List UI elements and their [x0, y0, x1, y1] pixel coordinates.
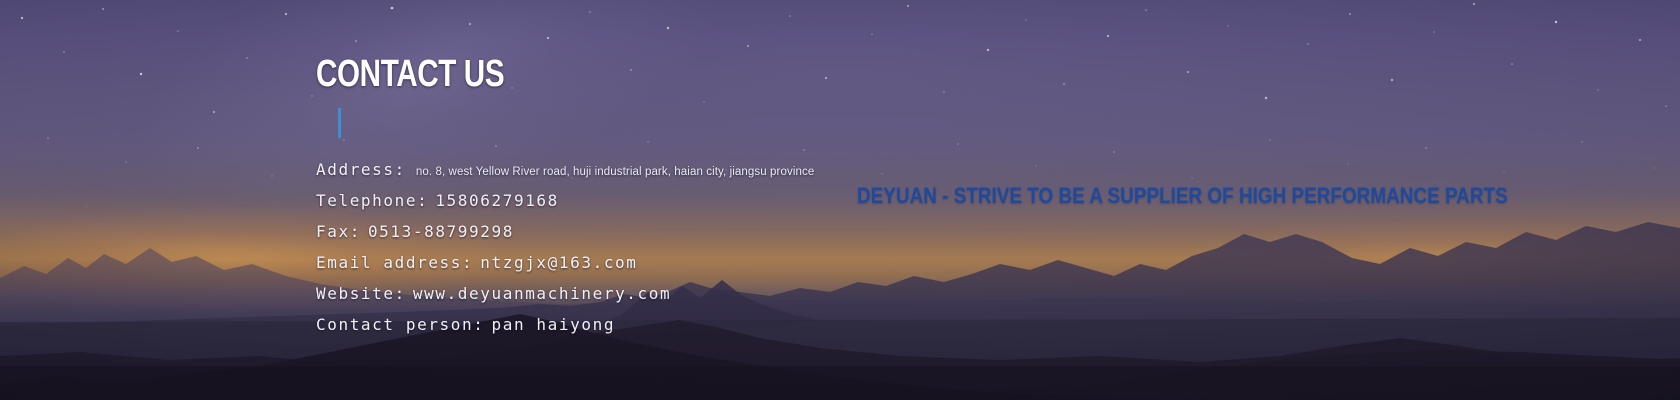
- email-label: Email address:: [316, 252, 473, 273]
- website-value[interactable]: www.deyuanmachinery.com: [413, 283, 671, 304]
- contact-person-value: pan haiyong: [492, 314, 616, 335]
- email-value[interactable]: ntzgjx@163.com: [480, 252, 637, 273]
- page-title: CONTACT US: [316, 54, 956, 94]
- fax-label: Fax:: [316, 221, 361, 242]
- contact-row-contact-person: Contact person: pan haiyong: [316, 314, 1136, 335]
- fax-value: 0513-88799298: [368, 221, 514, 242]
- address-label: Address:: [316, 159, 406, 180]
- accent-divider-bar: [338, 108, 341, 138]
- contact-row-fax: Fax: 0513-88799298: [316, 221, 1136, 242]
- telephone-label: Telephone:: [316, 190, 428, 211]
- banner-content: CONTACT US Address: no. 8, west Yellow R…: [0, 0, 1680, 400]
- company-tagline: DEYUAN - STRIVE TO BE A SUPPLIER OF HIGH…: [857, 183, 1508, 209]
- contact-row-email: Email address: ntzgjx@163.com: [316, 252, 1136, 273]
- contact-person-label: Contact person:: [316, 314, 485, 335]
- address-value: no. 8, west Yellow River road, huji indu…: [416, 165, 814, 179]
- contact-row-website: Website: www.deyuanmachinery.com: [316, 283, 1136, 304]
- website-label: Website:: [316, 283, 406, 304]
- contact-row-address: Address: no. 8, west Yellow River road, …: [316, 159, 1136, 180]
- telephone-value[interactable]: 15806279168: [435, 190, 559, 211]
- contact-banner: CONTACT US Address: no. 8, west Yellow R…: [0, 0, 1680, 400]
